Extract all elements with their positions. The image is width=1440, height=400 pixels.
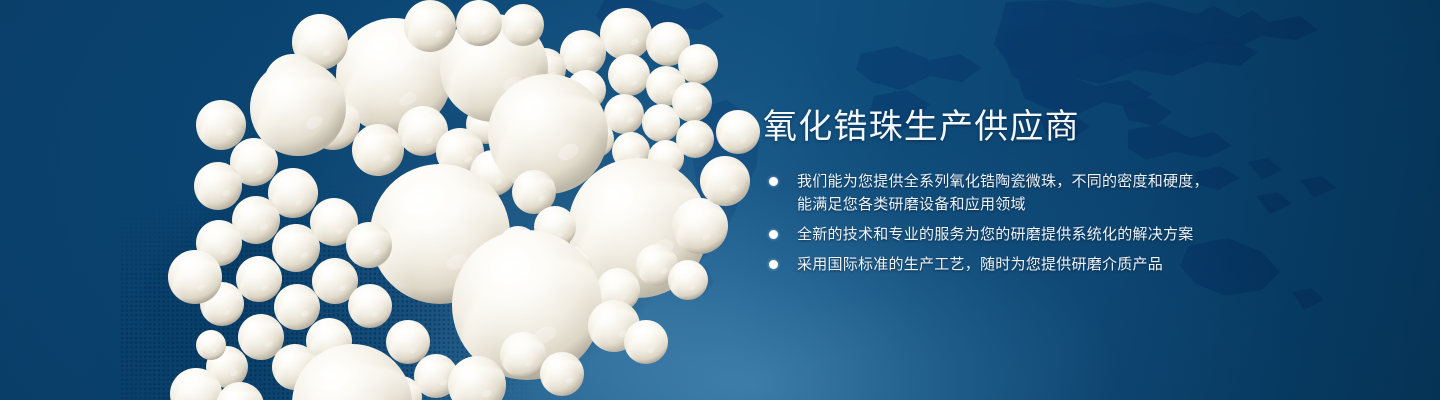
list-item: 采用国际标准的生产工艺，随时为您提供研磨介质产品 xyxy=(767,253,1237,276)
filled-circle-bullet-icon xyxy=(769,177,778,186)
list-item: 我们能为您提供全系列氧化锆陶瓷微珠，不同的密度和硬度， 能满足您各类研磨设备和应… xyxy=(767,170,1237,216)
page-title: 氧化锆珠生产供应商 xyxy=(763,108,1080,146)
bullet-line-1: 我们能为您提供全系列氧化锆陶瓷微珠，不同的密度和硬度， xyxy=(797,173,1209,190)
filled-circle-bullet-icon xyxy=(769,230,778,239)
bullet-line-1: 全新的技术和专业的服务为您的研磨提供系统化的解决方案 xyxy=(797,226,1194,243)
bullet-line-1: 采用国际标准的生产工艺，随时为您提供研磨介质产品 xyxy=(797,256,1163,273)
hero-banner: 氧化锆珠生产供应商 我们能为您提供全系列氧化锆陶瓷微珠，不同的密度和硬度， 能满… xyxy=(0,0,1440,400)
zirconia-beads-product-image xyxy=(0,0,760,400)
list-item: 全新的技术和专业的服务为您的研磨提供系统化的解决方案 xyxy=(767,223,1237,246)
banner-copy: 氧化锆珠生产供应商 我们能为您提供全系列氧化锆陶瓷微珠，不同的密度和硬度， 能满… xyxy=(763,0,1363,400)
bullet-line-2: 能满足您各类研磨设备和应用领域 xyxy=(797,193,1237,216)
feature-bullet-list: 我们能为您提供全系列氧化锆陶瓷微珠，不同的密度和硬度， 能满足您各类研磨设备和应… xyxy=(767,170,1237,283)
filled-circle-bullet-icon xyxy=(769,260,778,269)
